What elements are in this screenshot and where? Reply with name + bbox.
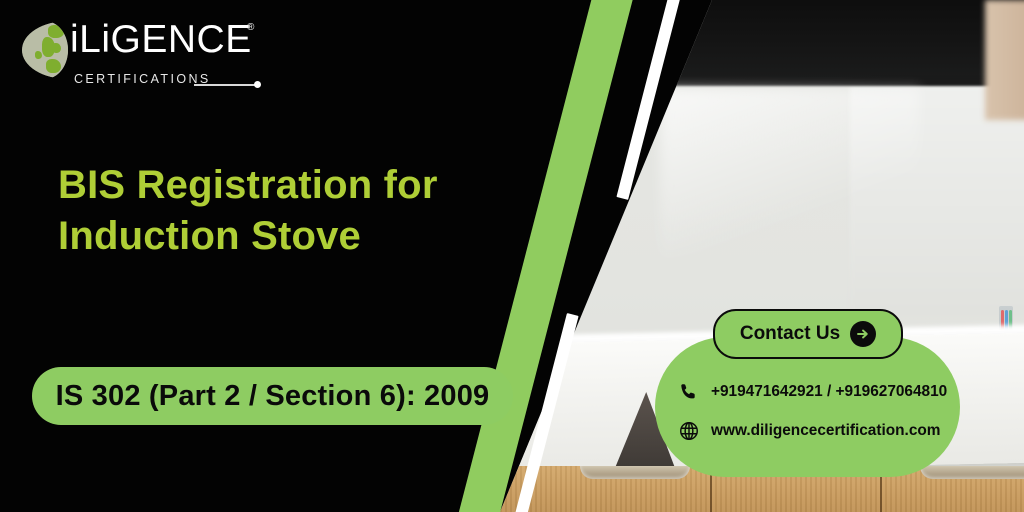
photo-cabinet-handle bbox=[580, 466, 690, 479]
globe-icon bbox=[678, 420, 700, 442]
headline-line-2: Induction Stove bbox=[58, 211, 528, 262]
photo-cabinet-handle bbox=[920, 466, 1024, 479]
logo-word-main: LiGENCE bbox=[79, 18, 252, 61]
logo-word-lead: i bbox=[70, 18, 79, 61]
contact-phone-number: +919471642921 / +919627064810 bbox=[711, 383, 947, 401]
contact-us-label: Contact Us bbox=[740, 323, 840, 345]
logo-rule-divider bbox=[194, 84, 256, 86]
promotional-banner: iLiGENCE ® CERTIFICATIONS BIS Registrati… bbox=[0, 0, 1024, 512]
logo-subtitle: CERTIFICATIONS bbox=[74, 72, 211, 86]
contact-website-row[interactable]: www.diligencecertification.com bbox=[678, 420, 940, 442]
contact-us-button[interactable]: Contact Us bbox=[713, 309, 903, 359]
globe-d-logo-icon bbox=[22, 21, 68, 79]
photo-wall-highlight bbox=[660, 88, 920, 258]
standard-badge-label: IS 302 (Part 2 / Section 6): 2009 bbox=[56, 380, 490, 413]
contact-phone-row[interactable]: +919471642921 / +919627064810 bbox=[678, 381, 947, 403]
page-title: BIS Registration for Induction Stove bbox=[58, 160, 528, 262]
arrow-right-circle-icon bbox=[850, 321, 876, 347]
registered-trademark-icon: ® bbox=[247, 22, 254, 33]
contact-website-url: www.diligencecertification.com bbox=[711, 422, 940, 440]
logo-wordmark: iLiGENCE bbox=[70, 18, 252, 62]
diligence-logo[interactable]: iLiGENCE ® CERTIFICATIONS bbox=[16, 16, 266, 86]
logo-dot-icon bbox=[254, 81, 261, 88]
photo-hood-shadow bbox=[640, 78, 1024, 86]
standard-badge: IS 302 (Part 2 / Section 6): 2009 bbox=[32, 367, 513, 425]
headline-line-1: BIS Registration for bbox=[58, 160, 528, 211]
photo-curtain bbox=[985, 0, 1024, 120]
phone-icon bbox=[678, 381, 700, 403]
